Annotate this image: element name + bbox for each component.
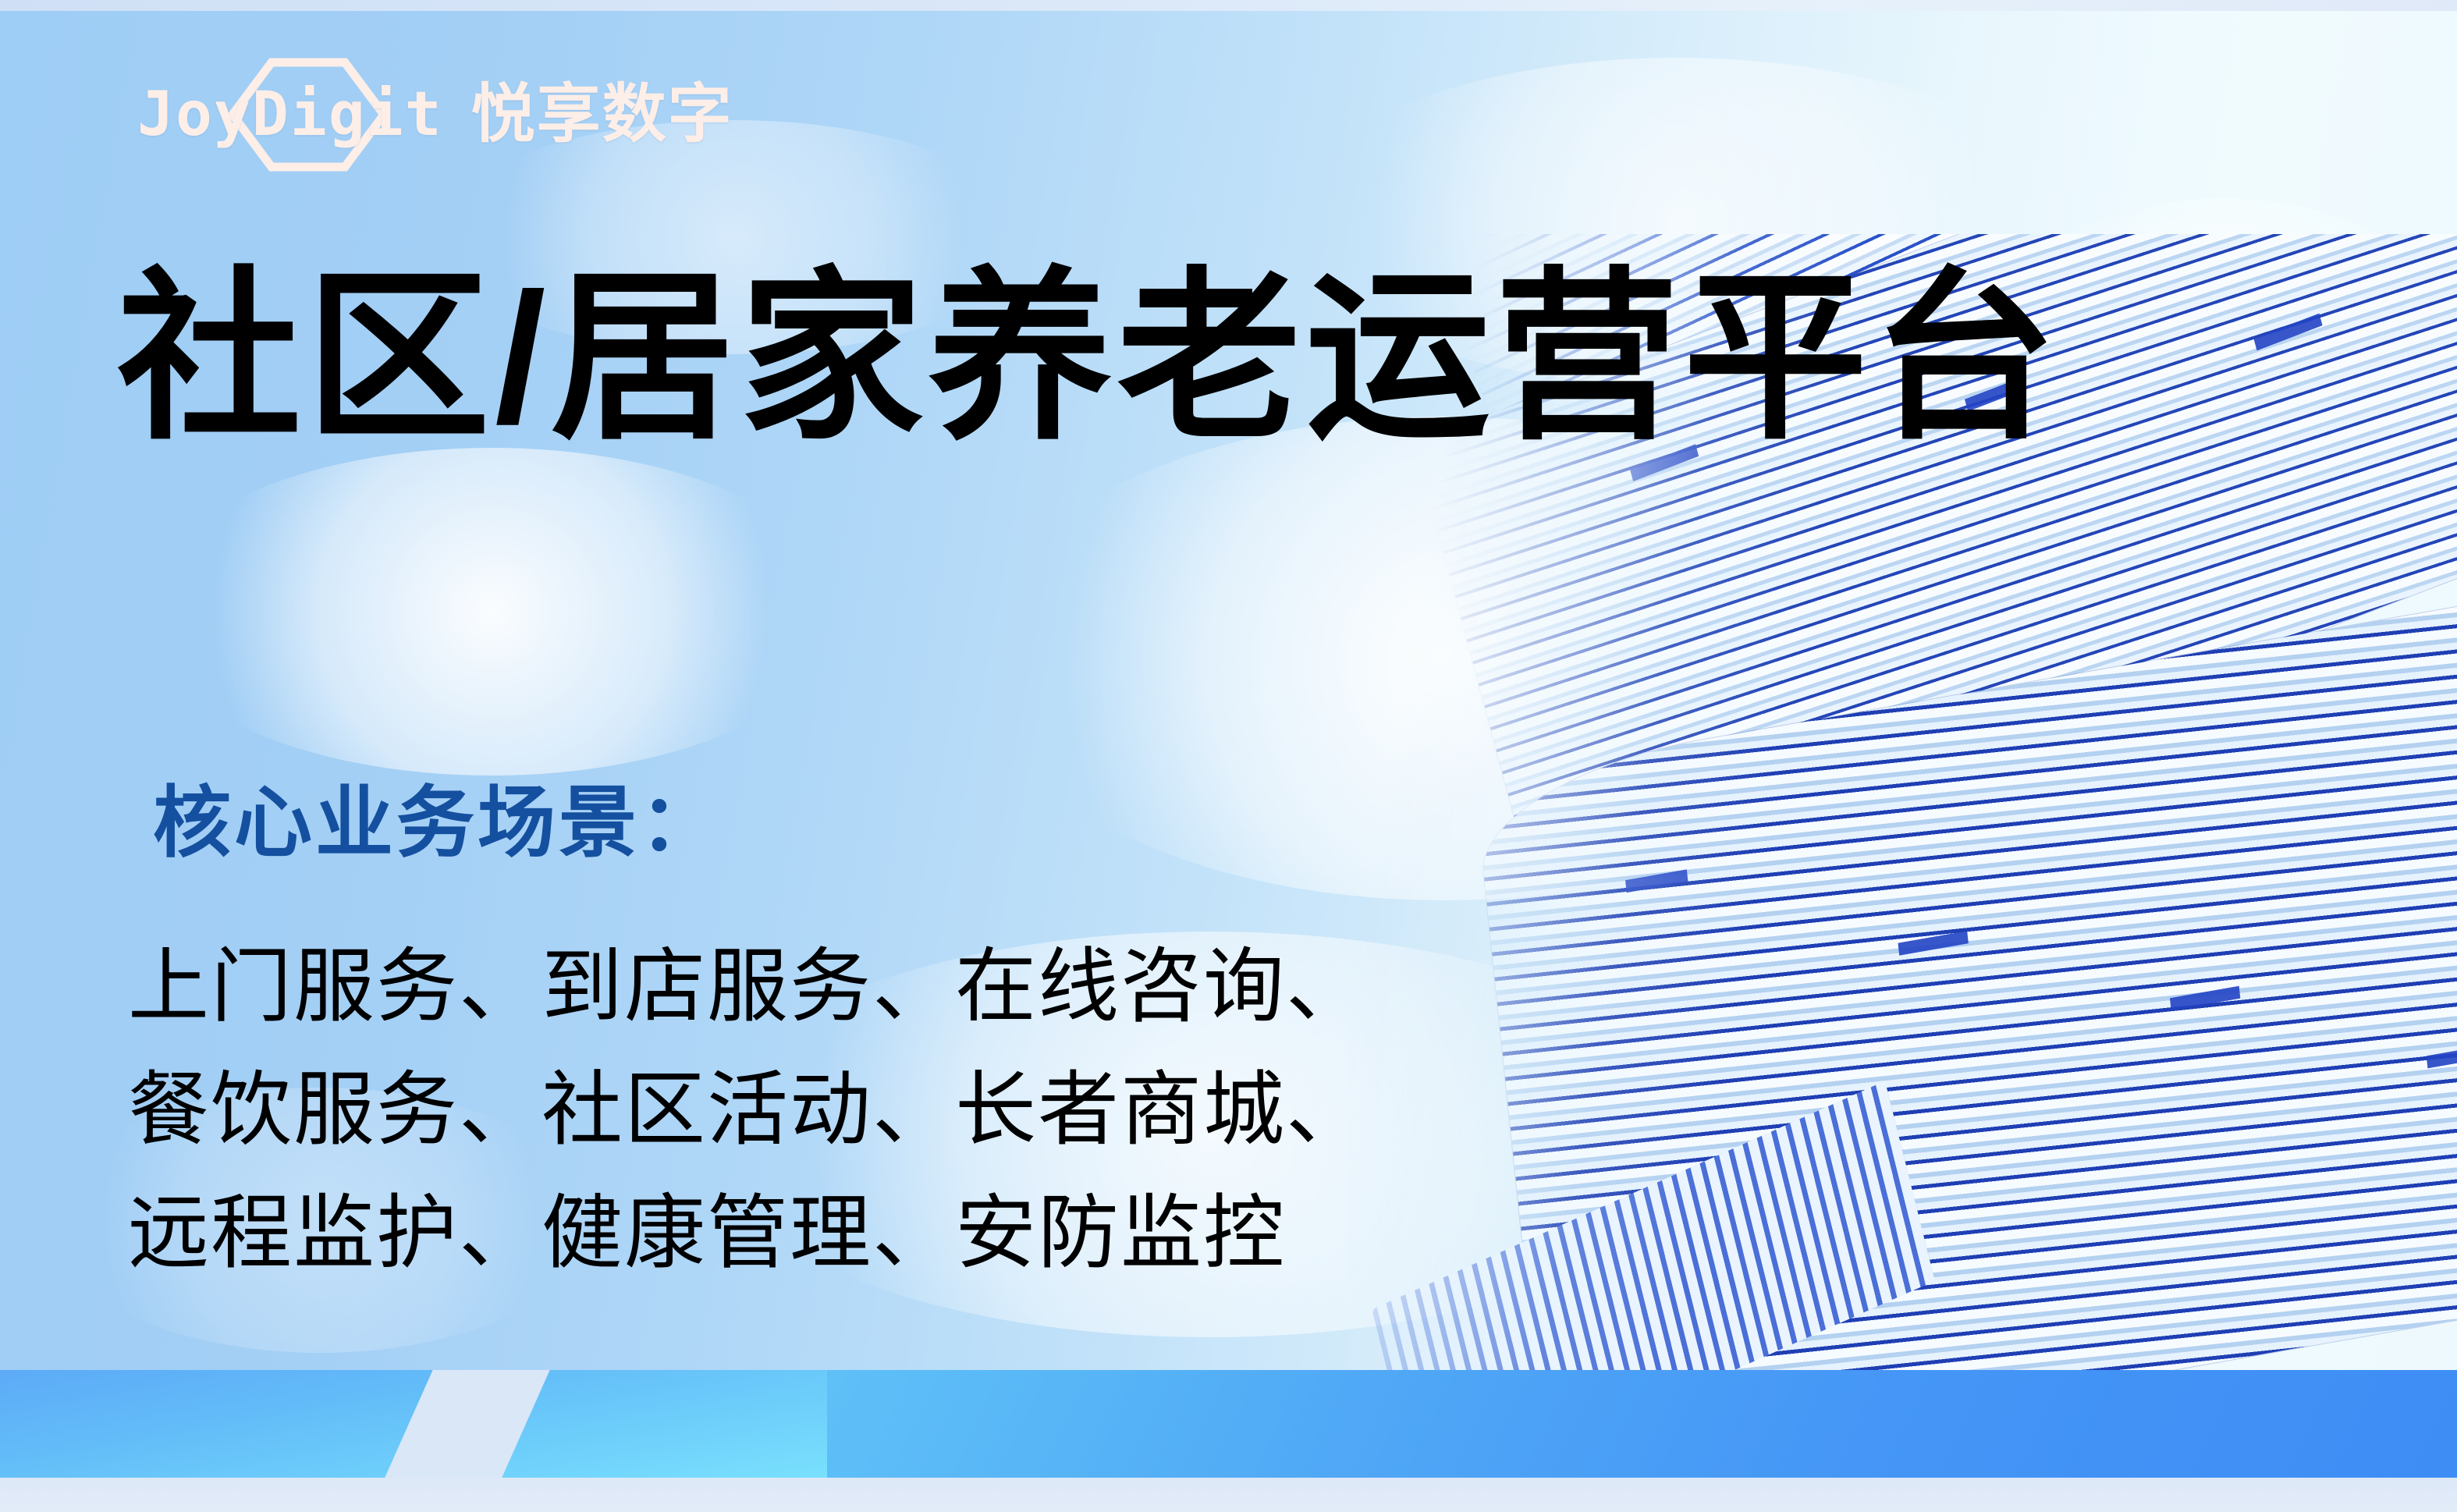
logo-wordmark: JoyDigit — [137, 84, 443, 145]
scenario-line: 上门服务、到店服务、在线咨询、 — [128, 925, 1369, 1049]
top-edge-strip — [0, 0, 2457, 11]
scenario-line: 餐饮服务、社区活动、长者商城、 — [128, 1049, 1369, 1172]
cloud-shape — [140, 448, 843, 776]
scenario-list: 上门服务、到店服务、在线咨询、 餐饮服务、社区活动、长者商城、 远程监护、健康管… — [128, 925, 1369, 1295]
scenario-line: 远程监护、健康管理、安防监控 — [128, 1172, 1369, 1295]
section-heading: 核心业务场景： — [153, 780, 721, 866]
logo-chinese-name: 悦享数字 — [471, 83, 733, 147]
page-title: 社区/居家养老运营平台 — [117, 257, 2061, 460]
slide-canvas: JoyDigit 悦享数字 社区/居家养老运营平台 核心业务场景： 上门服务、到… — [0, 0, 2457, 1512]
footer-decor-band — [0, 1370, 2457, 1512]
brand-logo[interactable]: JoyDigit 悦享数字 — [137, 64, 733, 165]
band-footer-fill — [0, 1478, 2457, 1512]
